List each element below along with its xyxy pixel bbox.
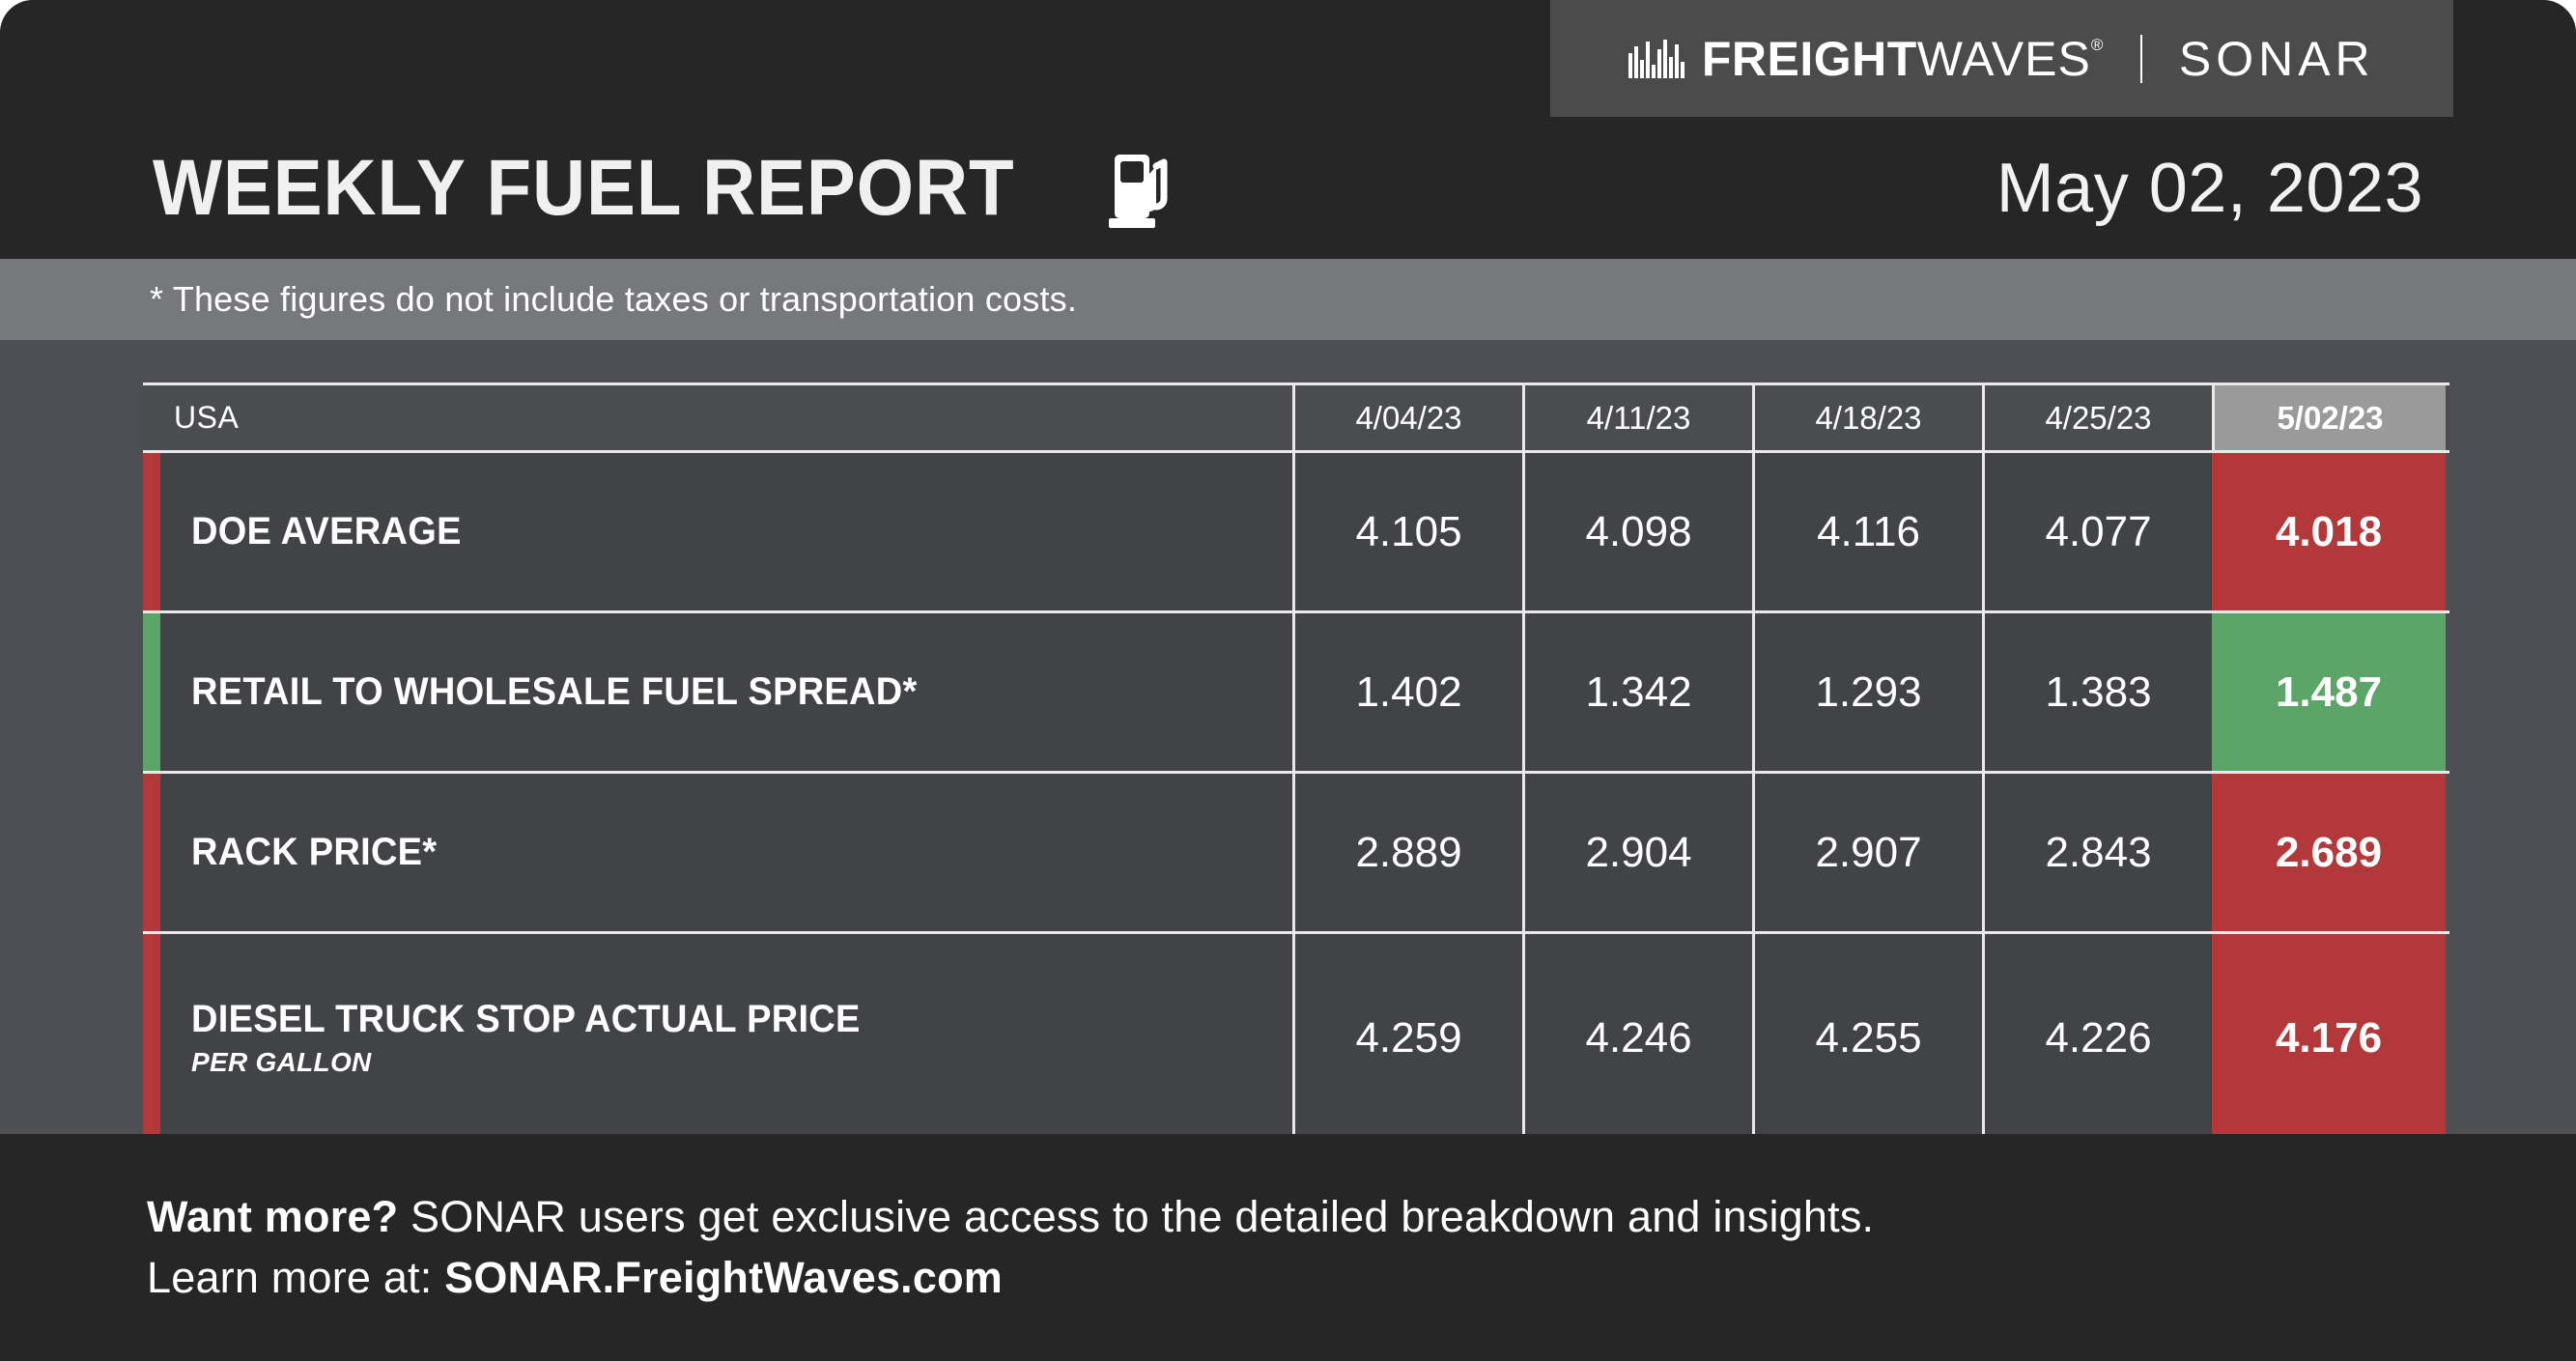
report-date: May 02, 2023 [1996,149,2423,228]
fuel-price-table: USA4/04/234/11/234/18/234/25/235/02/23 D… [143,383,2449,1145]
table-row: DOE AVERAGE4.1054.0984.1164.0774.018 [143,453,2449,613]
bar-chart-logo-icon [1628,40,1684,78]
row-accent-bar [143,934,160,1142]
row-value-cell: 4.255 [1752,934,1982,1142]
row-value-cell: 4.077 [1982,453,2212,610]
row-value-cell: 4.098 [1522,453,1752,610]
row-current-value-cell: 2.689 [2212,774,2446,931]
page-title: WEEKLY FUEL REPORT [153,149,1014,228]
disclaimer-text: * These figures do not include taxes or … [150,279,1077,320]
disclaimer-band: * These figures do not include taxes or … [0,259,2576,340]
row-label-cell: RETAIL TO WHOLESALE FUEL SPREAD* [143,613,1292,771]
row-value-cell: 1.293 [1752,613,1982,771]
row-label-title: RACK PRICE* [191,831,1237,874]
table-header-row: USA4/04/234/11/234/18/234/25/235/02/23 [143,383,2449,453]
row-value-cell: 4.226 [1982,934,2212,1142]
table-row: DIESEL TRUCK STOP ACTUAL PRICEPER GALLON… [143,934,2449,1145]
logo-divider [2140,35,2142,83]
footer-line-1-rest: SONAR users get exclusive access to the … [398,1192,1874,1241]
row-accent-bar [143,453,160,610]
title-row: WEEKLY FUEL REPORT May 02, 2023 [0,117,2576,259]
table-area: USA4/04/234/11/234/18/234/25/235/02/23 D… [0,340,2576,1134]
row-label-sublabel: PER GALLON [191,1047,1292,1078]
row-value-cell: 2.843 [1982,774,2212,931]
row-label-cell: DOE AVERAGE [143,453,1292,610]
table-header-date-2: 4/11/23 [1522,385,1752,450]
row-accent-bar [143,613,160,771]
footer-want-more-text: Want more? [147,1192,398,1241]
row-accent-bar [143,774,160,931]
row-label-cell: DIESEL TRUCK STOP ACTUAL PRICEPER GALLON [143,934,1292,1142]
row-value-cell: 4.259 [1292,934,1522,1142]
row-value-cell: 1.383 [1982,613,2212,771]
report-header: FREIGHTWAVES® SONAR WEEKLY FUEL REPORT M… [0,0,2576,259]
row-value-cell: 4.246 [1522,934,1752,1142]
weekly-fuel-report-infographic: SONARSONARSONARSONARSONARSONARSONARSONAR… [0,0,2576,1361]
row-value-cell: 2.907 [1752,774,1982,931]
table-header-date-4: 4/25/23 [1982,385,2212,450]
table-header-date-3: 4/18/23 [1752,385,1982,450]
sonar-wordmark: SONAR [2179,35,2375,83]
row-value-cell: 4.116 [1752,453,1982,610]
table-row: RETAIL TO WHOLESALE FUEL SPREAD*1.4021.3… [143,613,2449,774]
footer-line-2: Learn more at: SONAR.FreightWaves.com [147,1248,2576,1308]
table-row: RACK PRICE*2.8892.9042.9072.8432.689 [143,774,2449,934]
report-footer: Want more? SONAR users get exclusive acc… [0,1134,2576,1361]
row-value-cell: 2.889 [1292,774,1522,931]
table-body: DOE AVERAGE4.1054.0984.1164.0774.018RETA… [143,453,2449,1145]
footer-learn-more-prefix: Learn more at: [147,1253,444,1302]
row-label-cell: RACK PRICE* [143,774,1292,931]
row-value-cell: 1.402 [1292,613,1522,771]
row-label-title: RETAIL TO WHOLESALE FUEL SPREAD* [191,670,1237,714]
row-value-cell: 2.904 [1522,774,1752,931]
logo-freight-text: FREIGHT [1702,35,1917,83]
row-current-value-cell: 4.176 [2212,934,2446,1142]
row-label-title: DIESEL TRUCK STOP ACTUAL PRICE [191,998,1237,1041]
sonar-website-link[interactable]: SONAR.FreightWaves.com [444,1253,1003,1302]
row-value-cell: 1.342 [1522,613,1752,771]
table-header-date-1: 4/04/23 [1292,385,1522,450]
registered-mark: ® [2091,37,2104,53]
fuel-pump-icon [1109,149,1173,228]
freightwaves-wordmark: FREIGHTWAVES® [1702,35,2104,83]
logo-waves-text: WAVES [1917,35,2091,83]
freightwaves-sonar-logo: FREIGHTWAVES® SONAR [1550,0,2453,117]
row-value-cell: 4.105 [1292,453,1522,610]
row-current-value-cell: 1.487 [2212,613,2446,771]
footer-line-1: Want more? SONAR users get exclusive acc… [147,1187,2576,1247]
row-label-title: DOE AVERAGE [191,510,1237,553]
table-header-date-5: 5/02/23 [2212,385,2446,450]
table-header-region-label: USA [143,385,1292,450]
row-current-value-cell: 4.018 [2212,453,2446,610]
